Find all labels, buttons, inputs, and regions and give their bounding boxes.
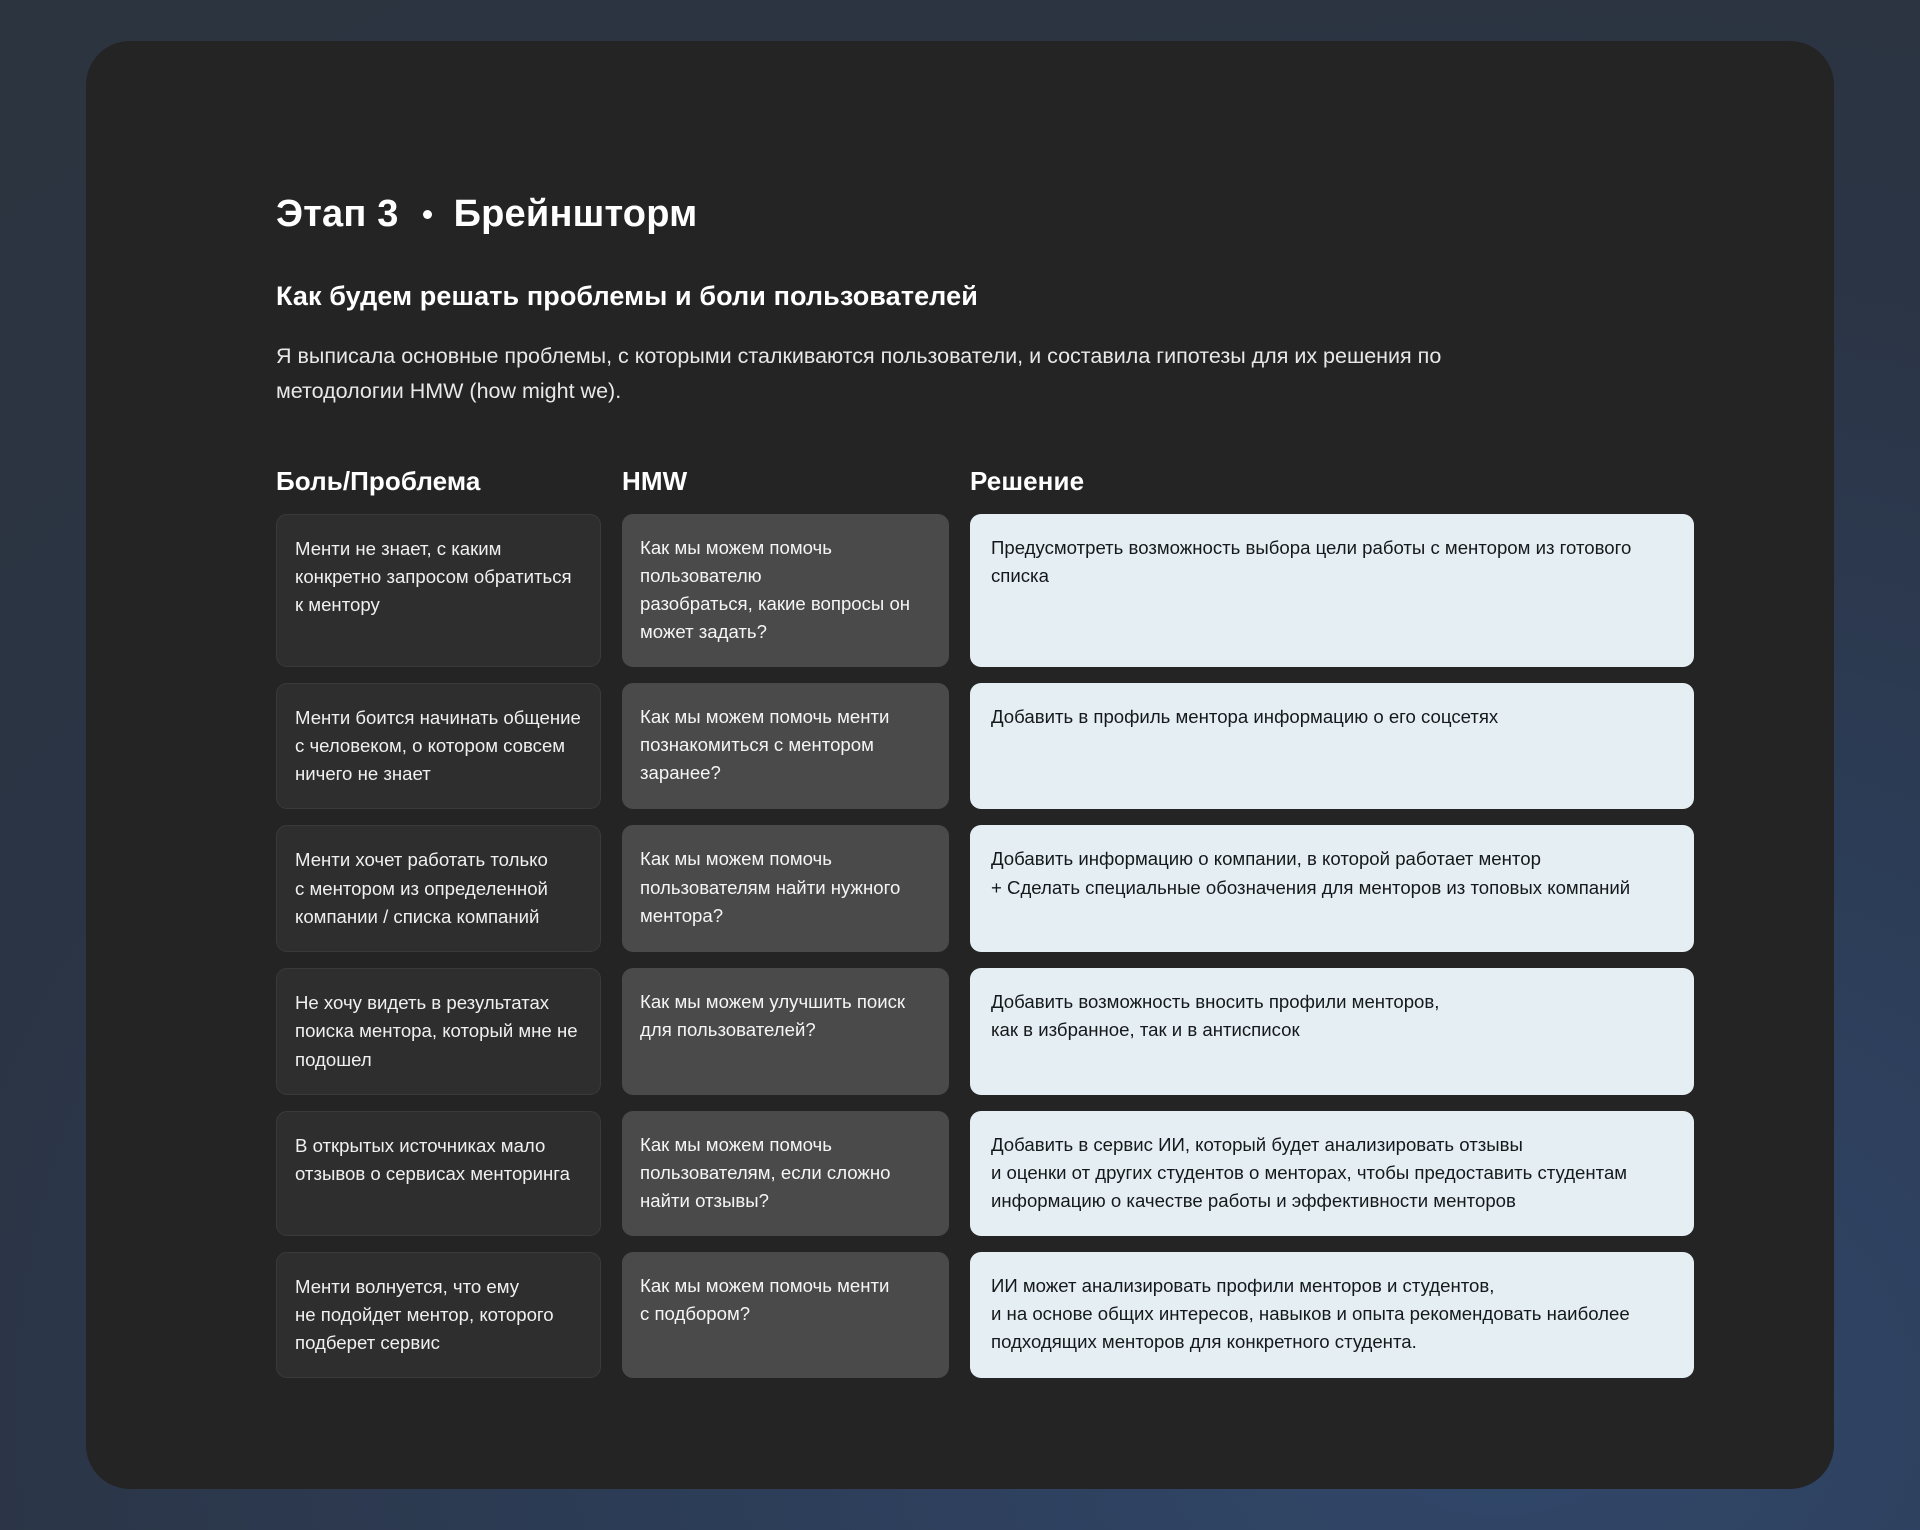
table-row: Менти не знает, с каким конкретно запрос… [276,514,1694,667]
solution-text: Добавить в профиль ментора информацию о … [991,703,1675,731]
hmw-text: Как мы можем помочь пользователюразобрат… [640,534,930,647]
table-row: Менти волнуется, что емуне подойдет мент… [276,1252,1694,1379]
hmw-text: Как мы можем помочь пользователям, если … [640,1131,930,1216]
hmw-card[interactable]: Как мы можем улучшить поиск для пользова… [622,968,949,1095]
stage-title: Брейншторм [454,193,698,236]
solution-card[interactable]: ИИ может анализировать профили менторов … [970,1252,1694,1379]
hmw-card[interactable]: Как мы можем помочь менти познакомиться … [622,683,949,810]
pain-card[interactable]: Менти хочет работать толькос ментором из… [276,825,601,952]
slide-panel: Этап 3 Брейншторм Как будем решать пробл… [86,41,1834,1489]
column-headers: Боль/Проблема HMW Решение [276,466,1694,497]
hmw-text: Как мы можем улучшить поиск для пользова… [640,988,930,1045]
page-subtitle: Как будем решать проблемы и боли пользов… [276,281,1694,312]
hmw-card[interactable]: Как мы можем помочь пользователюразобрат… [622,514,949,667]
slide-content: Этап 3 Брейншторм Как будем решать пробл… [124,193,1694,1378]
hmw-text: Как мы можем помочь ментис подбором? [640,1272,930,1329]
solution-card[interactable]: Добавить в профиль ментора информацию о … [970,683,1694,810]
pain-card[interactable]: Менти волнуется, что емуне подойдет мент… [276,1252,601,1379]
pain-card[interactable]: Менти боится начинать общениес человеком… [276,683,601,810]
hmw-text: Как мы можем помочь менти познакомиться … [640,703,930,788]
pain-text: Менти не знает, с каким конкретно запрос… [295,535,581,620]
hmw-card[interactable]: Как мы можем помочь пользователям, если … [622,1111,949,1236]
pain-text: Менти волнуется, что емуне подойдет мент… [295,1273,581,1358]
table-row: Не хочу видеть в результатах поиска мент… [276,968,1694,1095]
pain-text: Менти хочет работать толькос ментором из… [295,846,581,931]
table-row: Менти хочет работать толькос ментором из… [276,825,1694,952]
pain-card[interactable]: Не хочу видеть в результатах поиска мент… [276,968,601,1095]
pain-text: Не хочу видеть в результатах поиска мент… [295,989,581,1074]
solution-text: Добавить возможность вносить профили мен… [991,988,1675,1045]
pain-text: Менти боится начинать общениес человеком… [295,704,581,789]
hmw-card[interactable]: Как мы можем помочь ментис подбором? [622,1252,949,1379]
solution-text: Предусмотреть возможность выбора цели ра… [991,534,1675,591]
table-row: Менти боится начинать общениес человеком… [276,683,1694,810]
stage-label: Этап 3 [276,193,399,236]
solution-card[interactable]: Добавить информацию о компании, в которо… [970,825,1694,952]
pain-text: В открытых источниках мало отзывов о сер… [295,1132,581,1189]
solution-card[interactable]: Добавить возможность вносить профили мен… [970,968,1694,1095]
solution-text: Добавить в сервис ИИ, который будет анал… [991,1131,1675,1216]
hmw-table: Менти не знает, с каким конкретно запрос… [276,514,1694,1379]
page-description: Я выписала основные проблемы, с которыми… [276,339,1506,409]
hmw-text: Как мы можем помочь пользователям найти … [640,845,930,930]
pain-card[interactable]: Менти не знает, с каким конкретно запрос… [276,514,601,667]
bullet-dot-icon [423,210,432,219]
column-header-solution: Решение [970,466,1694,497]
hmw-card[interactable]: Как мы можем помочь пользователям найти … [622,825,949,952]
solution-card[interactable]: Предусмотреть возможность выбора цели ра… [970,514,1694,667]
stage-heading: Этап 3 Брейншторм [276,193,1694,236]
solution-card[interactable]: Добавить в сервис ИИ, который будет анал… [970,1111,1694,1236]
column-header-pain: Боль/Проблема [276,466,622,497]
solution-text: ИИ может анализировать профили менторов … [991,1272,1675,1357]
column-header-hmw: HMW [622,466,970,497]
pain-card[interactable]: В открытых источниках мало отзывов о сер… [276,1111,601,1236]
table-row: В открытых источниках мало отзывов о сер… [276,1111,1694,1236]
solution-text: Добавить информацию о компании, в которо… [991,845,1675,902]
